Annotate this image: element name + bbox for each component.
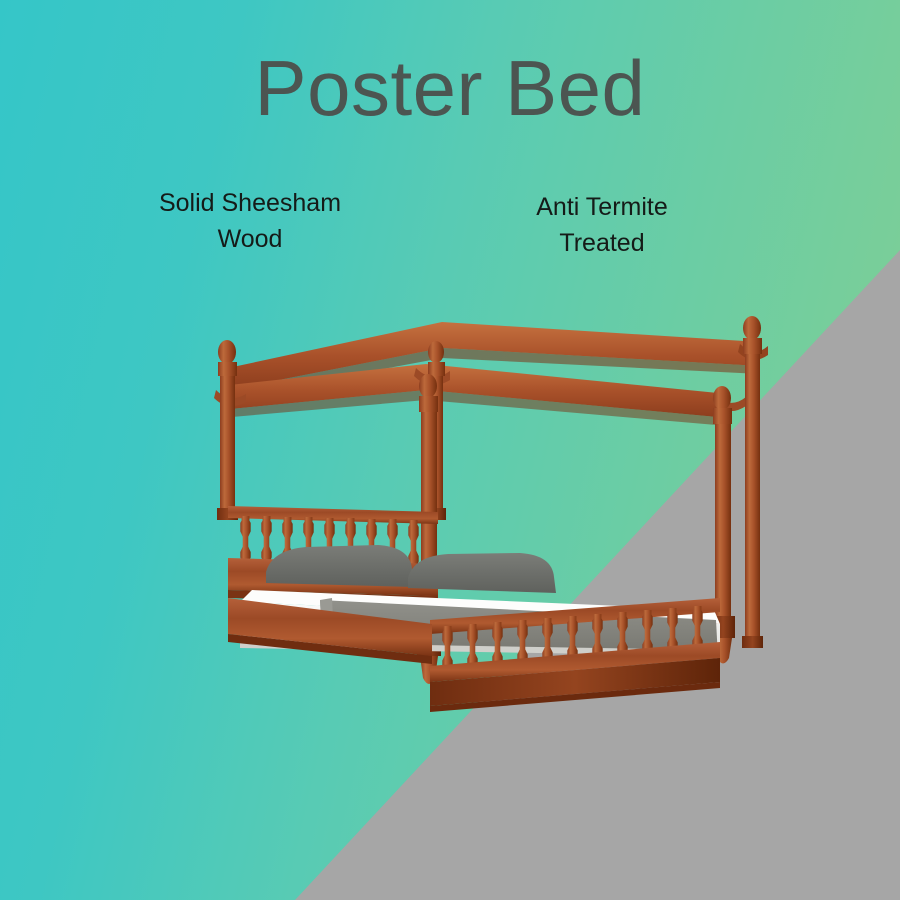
poster-canvas: Poster Bed Solid Sheesham Wood Anti Term… xyxy=(0,0,900,900)
bed-post-rear-left xyxy=(217,340,238,520)
product-image-poster-bed xyxy=(180,290,800,740)
feature-label-treatment: Anti Termite Treated xyxy=(490,190,714,261)
pillow-right xyxy=(408,553,556,593)
finial-rear-right xyxy=(743,316,761,340)
pillow-left xyxy=(266,545,414,587)
feature-label-material: Solid Sheesham Wood xyxy=(128,186,372,257)
finial-front-right xyxy=(713,386,731,410)
finial-head-right xyxy=(428,341,444,363)
bed-canopy-frame xyxy=(214,322,768,426)
bed-post-rear-right xyxy=(742,316,763,648)
page-title: Poster Bed xyxy=(0,46,900,132)
finial-rear-left xyxy=(218,340,236,364)
finial-front-left xyxy=(419,374,437,398)
